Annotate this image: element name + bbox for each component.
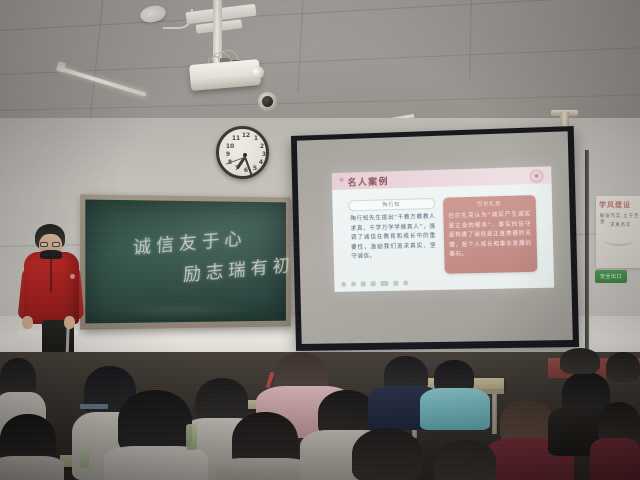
ceiling-seam [90,0,104,119]
poster-decoration [604,234,634,246]
slide-left-box-heading: 陶行知 [348,198,435,211]
slide-left-box-body: 陶行知先生提出“千教万教教人求真、千学万学学做真人”，强调了诚信在教育和成长中的… [350,213,436,262]
poster-line-2: 求真务实 [610,222,631,228]
poster-title: 学风建设 [599,200,631,210]
wall-corner-edge [585,150,589,380]
blackboard: 诚信友于心 励志瑞有初 [80,194,291,329]
clock-number: 3 [259,151,269,159]
camera-lens-icon [262,96,273,107]
wall-clock: 12 1 2 3 4 5 6 7 8 9 10 11 [216,126,269,179]
teacher-right-hand [64,316,75,329]
slide-right-box-heading: 巴尔扎克 [443,199,536,209]
slides-icon[interactable] [380,281,388,286]
teacher-jacket-zipper [50,258,52,292]
clock-number: 1 [251,135,261,143]
clock-number: 12 [241,132,251,140]
pen-icon[interactable] [361,281,366,286]
ceiling-seam [469,0,471,80]
jacket-logo-icon [70,274,75,279]
slide-left-box: 陶行知 陶行知先生提出“千教万教教人求真、千学万学学做真人”，强调了诚信在教育和… [348,198,437,274]
slide-right-box-body: 巴尔扎克认为“诚实产生诚实是立身的根本”，事实的信守是构建了诚信是正直美德的关键… [448,210,532,260]
play-icon[interactable] [341,282,346,287]
glasses-icon [40,242,61,248]
wall-poster: 学风建设 勤奋笃实 止于至善 求真务实 [596,196,640,268]
slide-right-box: 巴尔扎克 巴尔扎克认为“诚实产生诚实是立身的根本”，事实的信守是构建了诚信是正直… [443,195,538,274]
water-bottle [80,446,89,468]
chalk-dust [106,300,255,320]
clock-center-pin [243,153,247,157]
highlighter-icon[interactable] [371,281,376,286]
projected-slide: 名人案例 ❀ 陶行知 陶行知先生提出“千教万教教人求真、千学万学学做真人”，强调… [332,166,554,292]
slide-title-bullet-icon [340,178,344,182]
classroom-scene: 12 1 2 3 4 5 6 7 8 9 10 11 诚信友于心 励志瑞有初 [0,0,640,480]
more-icon[interactable] [403,281,408,286]
settings-icon[interactable] [351,282,356,287]
teacher-left-hand [22,316,33,329]
exit-sign: 安全出口 [595,270,627,283]
projection-screen: 名人案例 ❀ 陶行知 陶行知先生提出“千教万教教人求真、千学万学学做真人”，强调… [291,126,579,351]
ceiling-seam [0,0,639,31]
clock-number: 10 [225,143,235,151]
clock-number: 2 [257,143,267,151]
ceiling-seam [0,94,640,111]
blackboard-surface: 诚信友于心 励志瑞有初 [85,200,286,324]
water-bottle [186,424,197,450]
clock-number: 9 [223,151,233,159]
desk-leg [492,394,497,434]
slide-toolbar[interactable] [341,281,408,287]
grid-icon[interactable] [393,281,398,286]
ceiling [0,0,640,128]
clock-number: 11 [231,135,241,143]
notebook [80,404,108,409]
projection-screen-surface: 名人案例 ❀ 陶行知 陶行知先生提出“千教万教教人求真、千学万学学做真人”，强调… [297,131,573,344]
slide-title: 名人案例 [347,174,389,188]
